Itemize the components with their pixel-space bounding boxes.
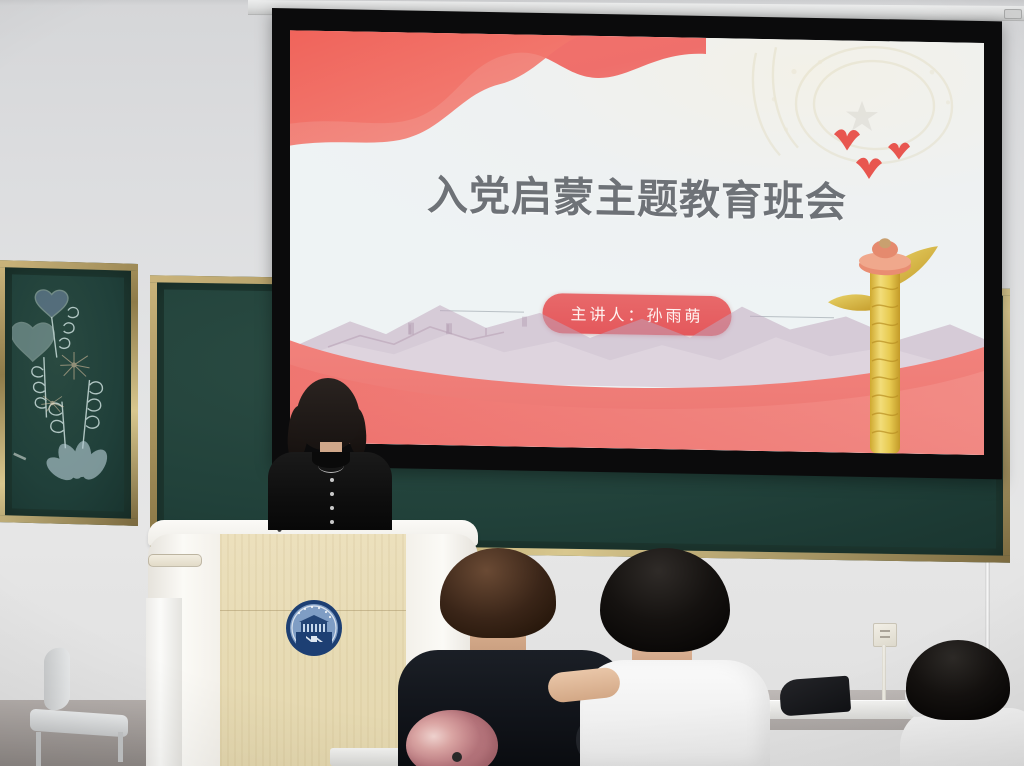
wall-column <box>146 598 182 766</box>
classroom-chair[interactable] <box>22 648 132 766</box>
student-hair <box>906 640 1010 720</box>
backpack-grommet <box>452 752 462 762</box>
student-hair <box>600 548 730 652</box>
chair-backrest <box>44 646 70 713</box>
cardigan-button <box>330 492 334 496</box>
lectern-nameplate <box>148 554 202 567</box>
outlet-conduit <box>882 645 886 707</box>
speaker <box>262 378 402 528</box>
student-foreground-center <box>580 548 770 766</box>
cardigan-button <box>330 478 334 482</box>
cardigan-button <box>330 506 334 510</box>
chalk-flower-drawing <box>12 274 124 493</box>
cardigan-button <box>330 520 334 524</box>
university-seal-icon <box>284 598 344 658</box>
speaker-necklace <box>318 458 344 473</box>
chair-leg <box>118 732 123 762</box>
student-hair <box>440 548 556 638</box>
student-foreground-right <box>900 640 1024 766</box>
wall-power-outlet[interactable] <box>873 623 897 647</box>
speaker-hair <box>296 378 360 450</box>
roller-end-cap <box>1004 9 1022 19</box>
classroom-photo: 入党启蒙主题教育班会 主讲人：孙雨萌 <box>0 0 1024 766</box>
side-blackboard <box>0 260 138 526</box>
chair-leg <box>36 732 41 766</box>
golden-huabiao-column <box>826 202 946 454</box>
black-bag <box>779 676 851 717</box>
chair-seat <box>30 709 128 738</box>
